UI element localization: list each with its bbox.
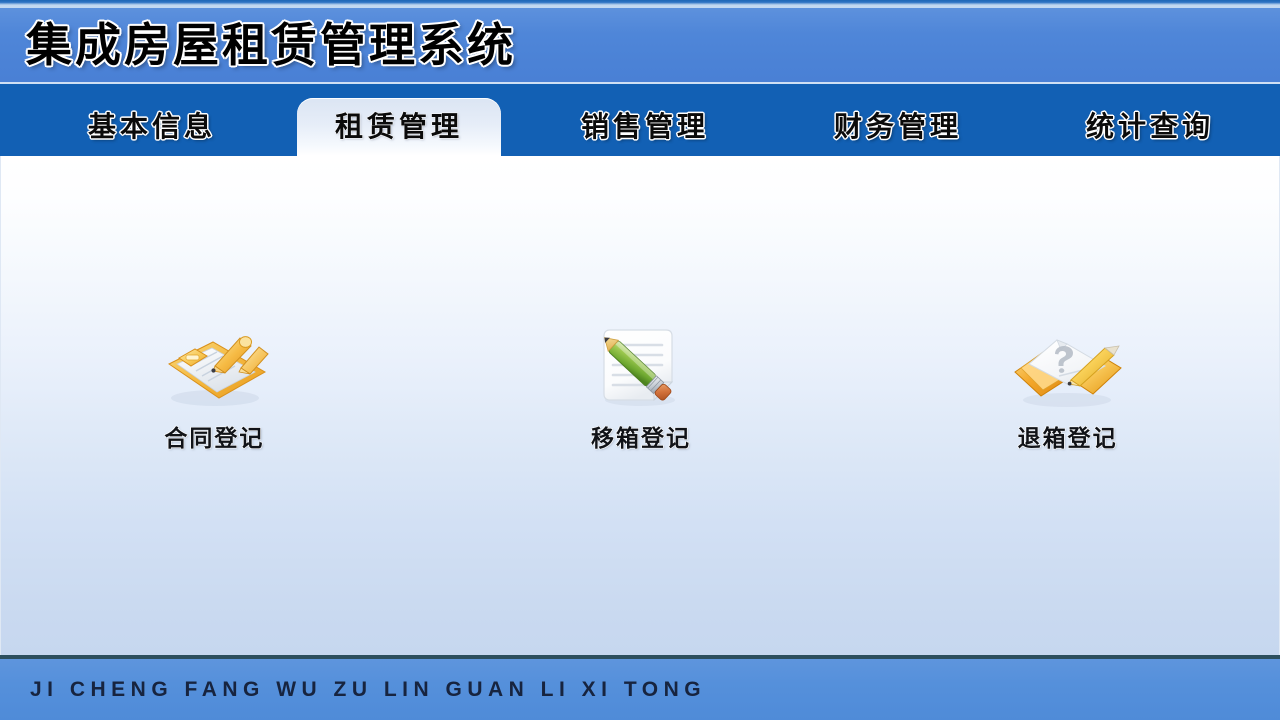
- module-container-return-registration[interactable]: 退箱登记: [854, 324, 1280, 450]
- tab-basic-info[interactable]: 基本信息: [62, 98, 242, 156]
- module-icon-grid: 合同登记: [1, 324, 1280, 450]
- module-label: 合同登记: [164, 427, 264, 450]
- tab-rental-management[interactable]: 租赁管理: [297, 98, 501, 156]
- clipboard-pen-icon: [155, 324, 273, 410]
- tab-label: 基本信息: [88, 113, 216, 141]
- app-footer: JI CHENG FANG WU ZU LIN GUAN LI XI TONG: [0, 655, 1280, 720]
- tab-label: 销售管理: [581, 113, 709, 141]
- content-panel: 合同登记: [0, 156, 1280, 655]
- module-label: 退箱登记: [1018, 427, 1118, 450]
- main-navigation-bar: 基本信息 租赁管理 销售管理 财务管理 统计查询: [0, 86, 1280, 156]
- module-container-move-registration[interactable]: 移箱登记: [428, 324, 855, 450]
- tab-sales-management[interactable]: 销售管理: [553, 98, 737, 156]
- note-pencil-icon: [582, 324, 700, 410]
- tab-finance-management[interactable]: 财务管理: [806, 98, 990, 156]
- application-window: 集成房屋租赁管理系统 基本信息 租赁管理 销售管理 财务管理 统计查询: [0, 0, 1280, 720]
- page-title: 集成房屋租赁管理系统: [26, 22, 516, 68]
- book-question-pencil-icon: [1009, 324, 1127, 410]
- title-band: 集成房屋租赁管理系统: [0, 6, 1280, 84]
- footer-pinyin-title: JI CHENG FANG WU ZU LIN GUAN LI XI TONG: [30, 679, 706, 700]
- tab-statistics-query[interactable]: 统计查询: [1058, 98, 1242, 156]
- module-label: 移箱登记: [591, 427, 691, 450]
- tab-strip: 基本信息 租赁管理 销售管理 财务管理 统计查询: [0, 86, 1280, 156]
- tab-label: 统计查询: [1086, 113, 1214, 141]
- tab-label: 财务管理: [834, 113, 962, 141]
- tab-label: 租赁管理: [335, 113, 463, 141]
- module-contract-registration[interactable]: 合同登记: [1, 324, 428, 450]
